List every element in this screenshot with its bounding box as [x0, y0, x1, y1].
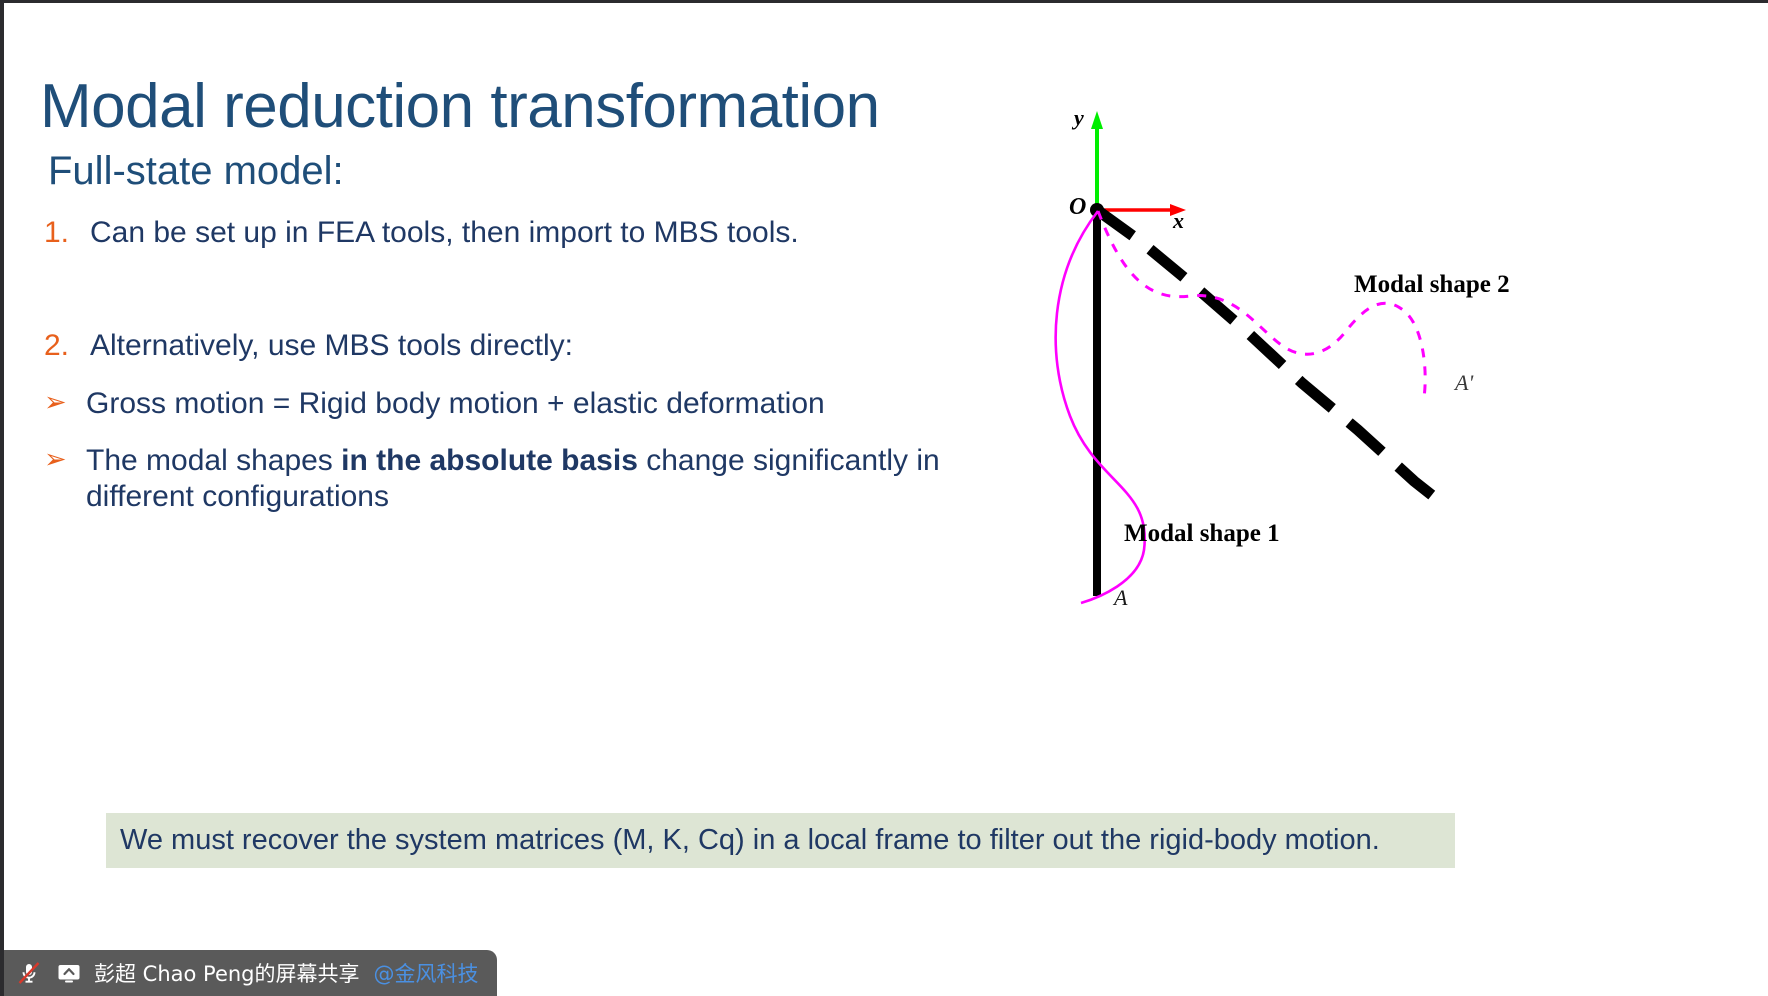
modal-shape-2-curve	[1098, 211, 1425, 398]
list-item: ➢ Gross motion = Rigid body motion + ela…	[44, 386, 1019, 421]
tip-deformed-label: A'	[1455, 370, 1473, 396]
spacer	[44, 421, 1019, 443]
text-before: The modal shapes	[86, 444, 341, 477]
list-marker-number: 2.	[44, 328, 90, 363]
tip-undeformed-label: A	[1114, 585, 1127, 611]
deformed-beam-dashed	[1097, 210, 1438, 500]
diagram-svg	[1024, 98, 1564, 638]
spacer	[44, 364, 1019, 386]
list-item-label: Can be set up in FEA tools, then import …	[90, 215, 1019, 250]
list-item-label: Gross motion = Rigid body motion + elast…	[86, 386, 1019, 421]
list-item: 1. Can be set up in FEA tools, then impo…	[44, 215, 1019, 250]
origin-label: O	[1069, 194, 1086, 221]
arrow-bullet-icon: ➢	[44, 444, 86, 476]
modal-shape-1-label: Modal shape 1	[1124, 520, 1280, 548]
list-item-label: Alternatively, use MBS tools directly:	[90, 328, 1019, 363]
flexible-beam-diagram: y x O A A' Modal shape 1 Modal shape 2	[1024, 98, 1564, 638]
arrow-bullet-icon: ➢	[44, 387, 86, 419]
section-subheading: Full-state model:	[48, 149, 344, 194]
share-status-text: 彭超 Chao Peng的屏幕共享	[94, 958, 360, 988]
screen-share-taskbar[interactable]: 彭超 Chao Peng的屏幕共享 @金风科技	[4, 950, 497, 996]
list-marker-number: 1.	[44, 215, 90, 250]
screen-share-icon[interactable]	[54, 958, 84, 988]
microphone-muted-icon[interactable]	[14, 958, 44, 988]
list-item: ➢ The modal shapes in the absolute basis…	[44, 443, 1019, 514]
modal-shape-2-label: Modal shape 2	[1354, 271, 1510, 299]
slide-canvas: Modal reduction transformation Full-stat…	[0, 0, 1768, 996]
x-axis-label: x	[1173, 208, 1184, 234]
share-handle-text: @金风科技	[374, 958, 479, 988]
text-emphasis: in the absolute basis	[341, 444, 638, 477]
list-item: 2. Alternatively, use MBS tools directly…	[44, 328, 1019, 363]
page-title: Modal reduction transformation	[40, 73, 880, 141]
callout-box: We must recover the system matrices (M, …	[106, 813, 1455, 868]
callout-text: We must recover the system matrices (M, …	[106, 824, 1380, 857]
list-item-label: The modal shapes in the absolute basis c…	[86, 443, 1019, 514]
bullet-list: 1. Can be set up in FEA tools, then impo…	[44, 215, 1019, 514]
y-axis-label: y	[1074, 105, 1084, 131]
spacer	[44, 250, 1019, 328]
y-axis-arrowhead	[1091, 111, 1103, 129]
